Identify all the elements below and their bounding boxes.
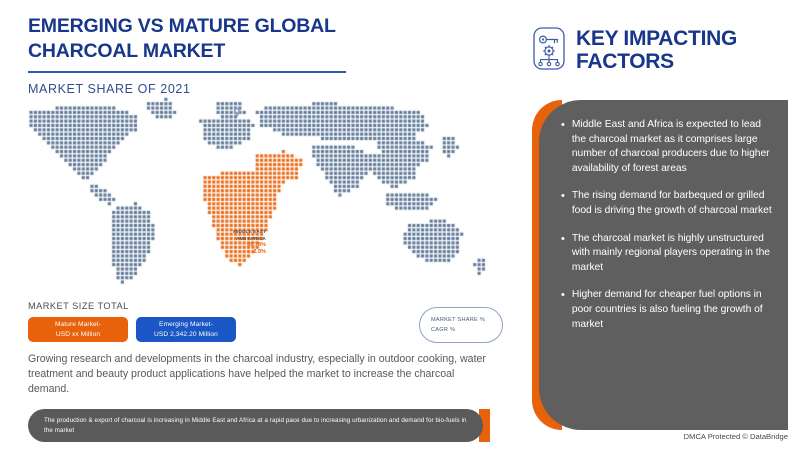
factor-text: Middle East and Africa is expected to le… [572,118,774,176]
location-pin-icon [233,105,241,123]
page-title-line-2: CHARCOAL MARKET [28,39,468,64]
key-factors-title-line-1: KEY IMPACTING [576,27,737,50]
region-name-line-2: AND AFRICA [214,236,266,243]
key-factors-header: KEY IMPACTING FACTORS [532,26,737,73]
key-gear-network-icon [532,26,566,71]
market-share-percent-label: MARKET SHARE % [431,317,502,323]
legend-title: MARKET SIZE TOTAL [28,301,129,311]
factor-text: The charcoal market is highly unstructur… [572,232,774,276]
legend-emerging-line-1: Emerging Market- [159,320,213,329]
title-block: EMERGING VS MATURE GLOBAL CHARCOAL MARKE… [28,14,468,96]
bullet-icon: • [561,189,565,218]
cagr-percent-label: CAGR % [431,327,502,333]
footer-credit: DMCA Protected © DataBridge [684,432,788,441]
list-item: • Middle East and Africa is expected to … [561,118,774,176]
legend-emerging-line-2: USD 2,342.20 Million [154,330,218,339]
summary-paragraph: Growing research and developments in the… [28,352,490,398]
key-factors-card: • Middle East and Africa is expected to … [532,100,788,430]
world-dot-map [18,95,503,295]
title-divider [28,71,346,73]
callout-text: The production & export of charcoal is i… [44,416,467,435]
factor-text: Higher demand for cheaper fuel options i… [572,288,774,332]
region-name-line-1: MIDDLE EAST [214,229,266,236]
factor-text: The rising demand for barbequed or grill… [572,189,774,218]
legend-pill-mature-market: Mature Market- USD xx Million [28,317,128,342]
left-panel: EMERGING VS MATURE GLOBAL CHARCOAL MARKE… [0,0,512,450]
key-factors-list: • Middle East and Africa is expected to … [539,100,788,430]
legend-mature-line-2: USD xx Million [56,330,100,339]
legend-pill-emerging-market: Emerging Market- USD 2,342.20 Million [136,317,236,342]
bullet-icon: • [561,232,565,276]
region-market-share: 65.78% [214,242,266,249]
list-item: • The rising demand for barbequed or gri… [561,189,774,218]
key-factors-title-line-2: FACTORS [576,50,737,73]
bullet-icon: • [561,288,565,332]
right-panel: KEY IMPACTING FACTORS • Middle East and … [512,0,800,450]
market-share-cagr-legend: MARKET SHARE % CAGR % [419,307,503,343]
map-dots-canvas [18,95,503,295]
region-cagr: 2.9% [214,249,266,256]
page-title-line-1: EMERGING VS MATURE GLOBAL [28,14,468,39]
legend-mature-line-1: Mature Market- [55,320,101,329]
callout-box: The production & export of charcoal is i… [28,409,490,442]
page-subtitle: MARKET SHARE OF 2021 [28,82,468,96]
map-region-label: MIDDLE EAST AND AFRICA 65.78% 2.9% [214,229,266,255]
bullet-icon: • [561,118,565,176]
key-factors-title: KEY IMPACTING FACTORS [576,26,737,73]
list-item: • The charcoal market is highly unstruct… [561,232,774,276]
list-item: • Higher demand for cheaper fuel options… [561,288,774,332]
callout-body: The production & export of charcoal is i… [28,409,483,442]
